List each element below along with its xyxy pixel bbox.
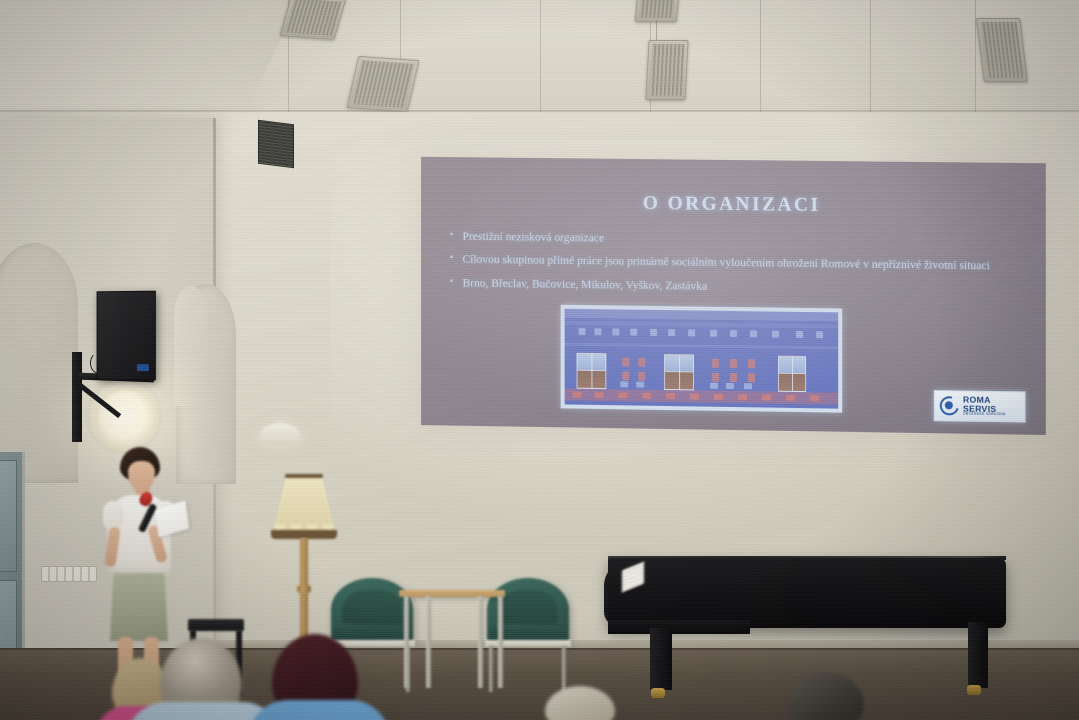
side-table — [399, 590, 505, 597]
projection-screen: O ORGANIZACI Prestižní nezisková organiz… — [421, 157, 1046, 435]
ceiling-seam — [540, 0, 541, 118]
pa-speaker — [97, 291, 156, 381]
grand-piano — [608, 558, 1006, 628]
ventilation-grille-icon — [258, 120, 294, 168]
audience-hair — [545, 686, 615, 720]
slide-bullet: Brno, Břeclav, Bučovice, Mikulov, Vyškov… — [448, 275, 1022, 299]
audience-hair — [788, 672, 864, 720]
table-leg — [498, 596, 503, 688]
piano-wheel — [651, 688, 665, 698]
audience-member-4 — [545, 686, 615, 720]
ceiling-seam — [870, 0, 871, 118]
piano-leg — [968, 622, 988, 688]
light-wire — [656, 20, 657, 42]
audience-member-2 — [160, 638, 242, 720]
wall-arch-left — [0, 243, 78, 483]
slide-building-photo — [561, 305, 843, 413]
table-leg — [404, 596, 409, 688]
table-leg — [426, 596, 431, 688]
piano-wheel — [967, 685, 981, 695]
lamp-trim-top — [285, 474, 323, 478]
ceiling-seam — [760, 0, 761, 118]
ceiling-light-icon — [346, 56, 419, 112]
radiator — [41, 566, 97, 582]
logo-line-3: OBČANSKÉ SDRUŽENÍ — [963, 413, 1006, 417]
piano-leg — [650, 628, 672, 690]
speaker-bracket — [72, 352, 82, 442]
slide-title: O ORGANIZACI — [421, 191, 1046, 220]
table-leg — [478, 596, 483, 688]
presenter-skirt — [110, 573, 168, 641]
wall-light-ring — [95, 387, 157, 449]
armchair-leg — [489, 646, 493, 692]
slide-bullet-list: Prestižní nezisková organizace Cílovou s… — [448, 229, 1022, 307]
ceiling-light-icon — [645, 40, 688, 100]
lamp-knob — [297, 585, 311, 593]
roma-servis-logo-icon — [940, 396, 959, 415]
audience-member-5 — [788, 672, 864, 720]
audience-member-3 — [272, 634, 358, 720]
slide-bullet: Cílovou skupinou přímé práce jsou primár… — [448, 252, 1022, 276]
ceiling-light-icon — [976, 18, 1028, 82]
piano-keyboard-housing — [608, 620, 750, 634]
ceiling-light-icon — [635, 0, 679, 22]
photo-scene: O ORGANIZACI Prestižní nezisková organiz… — [0, 0, 1079, 720]
slide-bullet: Prestižní nezisková organizace — [448, 229, 1022, 252]
logo-wordmark: ROMA SERVIS OBČANSKÉ SDRUŽENÍ — [963, 396, 1006, 417]
roma-servis-logo: ROMA SERVIS OBČANSKÉ SDRUŽENÍ — [934, 390, 1026, 423]
wall-arch-inner — [174, 286, 208, 406]
building-facade — [565, 309, 839, 409]
